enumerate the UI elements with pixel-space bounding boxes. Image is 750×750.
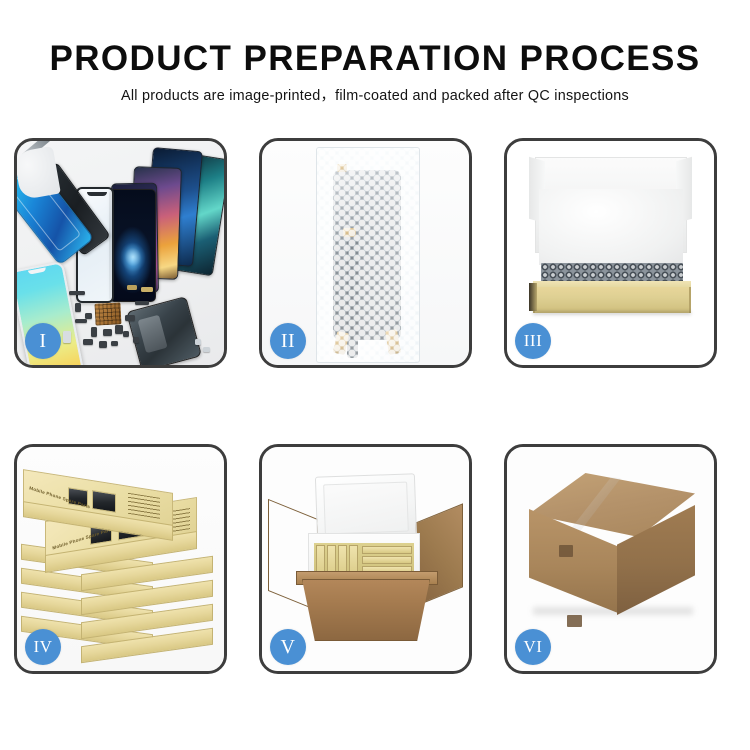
- page-title: PRODUCT PREPARATION PROCESS: [0, 40, 750, 78]
- process-step-grid: I II: [14, 138, 740, 678]
- tray-shadow: [533, 311, 691, 315]
- kraft-tray-side: [529, 283, 537, 311]
- step-badge-5: V: [270, 629, 306, 665]
- step-badge-6: VI: [515, 629, 551, 665]
- panel-bubble-wrap-bag[interactable]: II: [259, 138, 472, 368]
- panel-stacked-retail-boxes[interactable]: Mobile Phone Spare Parts Mobile Phone Sp…: [14, 444, 227, 674]
- bubble-wrap-bag: [316, 147, 420, 363]
- kraft-tray-front: [533, 287, 691, 313]
- foam-sheet: [539, 189, 683, 265]
- step-badge-3: III: [515, 323, 551, 359]
- product-preparation-infographic: PRODUCT PREPARATION PROCESS All products…: [0, 0, 750, 750]
- step-badge-4: IV: [25, 629, 61, 665]
- page-subtitle: All products are image-printed，film-coat…: [0, 87, 750, 105]
- panel-open-tray-box[interactable]: III: [504, 138, 717, 368]
- header: PRODUCT PREPARATION PROCESS All products…: [0, 0, 750, 105]
- carton-body: [302, 579, 430, 641]
- step-badge-2: II: [270, 323, 306, 359]
- chip-grid-component: [94, 302, 121, 325]
- carton-handle-hole-lower: [567, 615, 582, 627]
- panel-products-collage[interactable]: I: [14, 138, 227, 368]
- carton-handle-hole-upper: [559, 545, 573, 557]
- step-badge-1: I: [25, 323, 61, 359]
- panel-sealed-carton[interactable]: VI: [504, 444, 717, 674]
- panel-styrofoam-in-carton[interactable]: V: [259, 444, 472, 674]
- plastic-sheen: [317, 148, 419, 362]
